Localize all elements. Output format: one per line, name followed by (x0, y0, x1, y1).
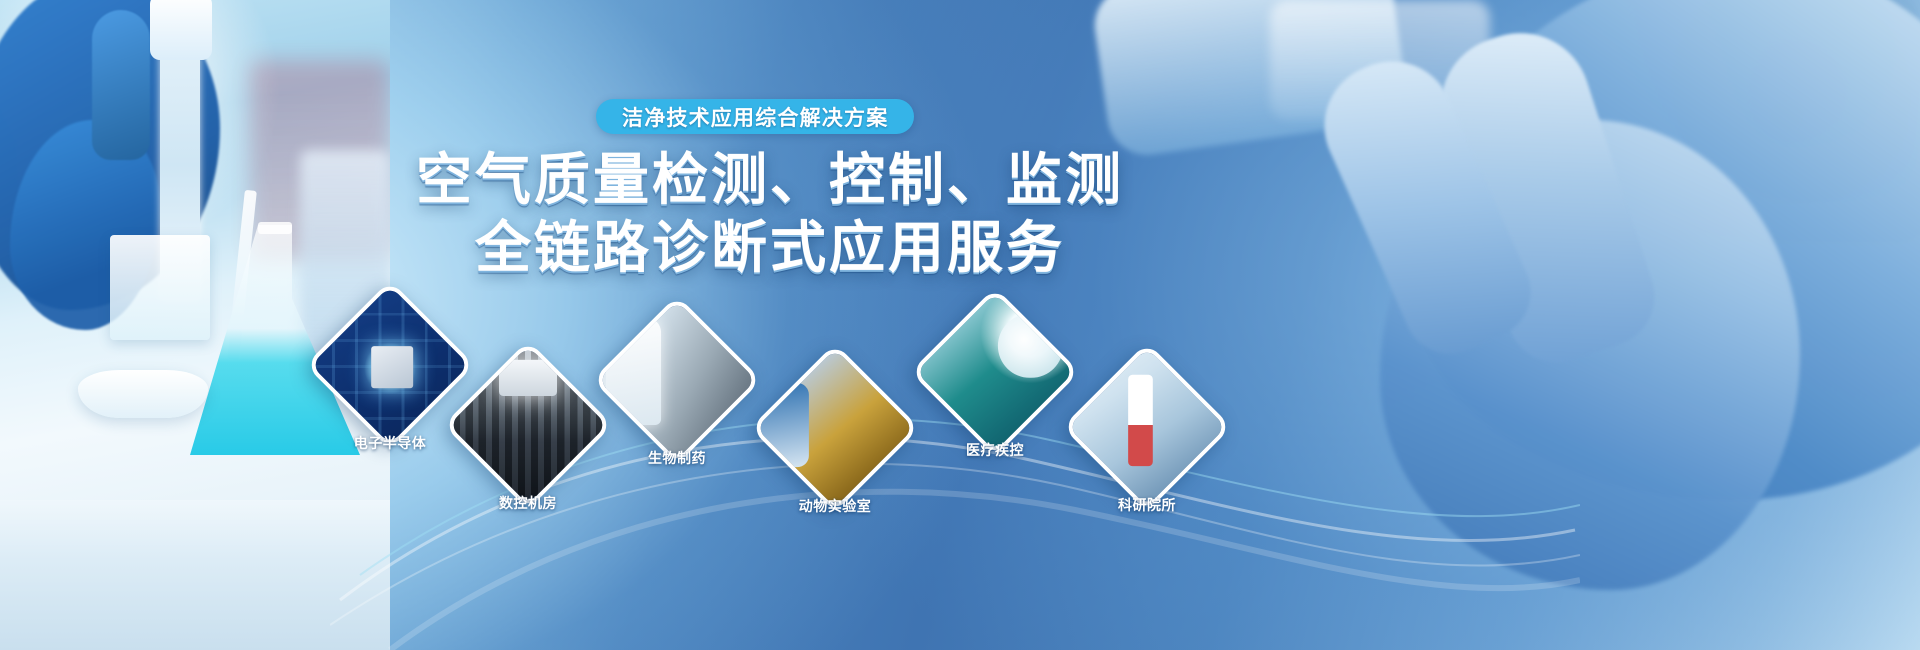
diamond-frame (592, 295, 762, 465)
pharma-line-icon (596, 299, 758, 461)
industry-card-label: 动物实验室 (735, 496, 935, 516)
industry-card-medical-cdc[interactable]: 医疗疾控 (935, 312, 1055, 432)
industry-card-label: 数控机房 (428, 493, 628, 513)
circuit-chip-icon (309, 284, 471, 446)
industry-card-label: 生物制药 (577, 448, 777, 468)
industry-card-biopharma[interactable]: 生物制药 (617, 320, 737, 440)
industry-card-label: 科研院所 (1047, 495, 1247, 515)
medical-cdc-icon (914, 291, 1076, 453)
hero-banner: 洁净技术应用综合解决方案 空气质量检测、控制、监测 全链路诊断式应用服务 电子半… (0, 0, 1920, 650)
industry-card-row: 电子半导体 数控机房 生物制药 动物实验室 (0, 0, 1920, 650)
industry-card-research[interactable]: 科研院所 (1087, 367, 1207, 487)
industry-card-electronics[interactable]: 电子半导体 (330, 305, 450, 425)
research-institute-icon (1066, 346, 1228, 508)
diamond-frame (910, 287, 1080, 457)
banner-content: 洁净技术应用综合解决方案 空气质量检测、控制、监测 全链路诊断式应用服务 电子半… (0, 0, 1920, 650)
industry-card-label: 医疗疾控 (895, 440, 1095, 460)
industry-card-datacenter[interactable]: 数控机房 (468, 365, 588, 485)
server-room-icon (447, 344, 609, 506)
diamond-frame (443, 340, 613, 510)
diamond-frame (750, 343, 920, 513)
animal-lab-icon (754, 347, 916, 509)
diamond-frame (1062, 342, 1232, 512)
industry-card-animal-lab[interactable]: 动物实验室 (775, 368, 895, 488)
